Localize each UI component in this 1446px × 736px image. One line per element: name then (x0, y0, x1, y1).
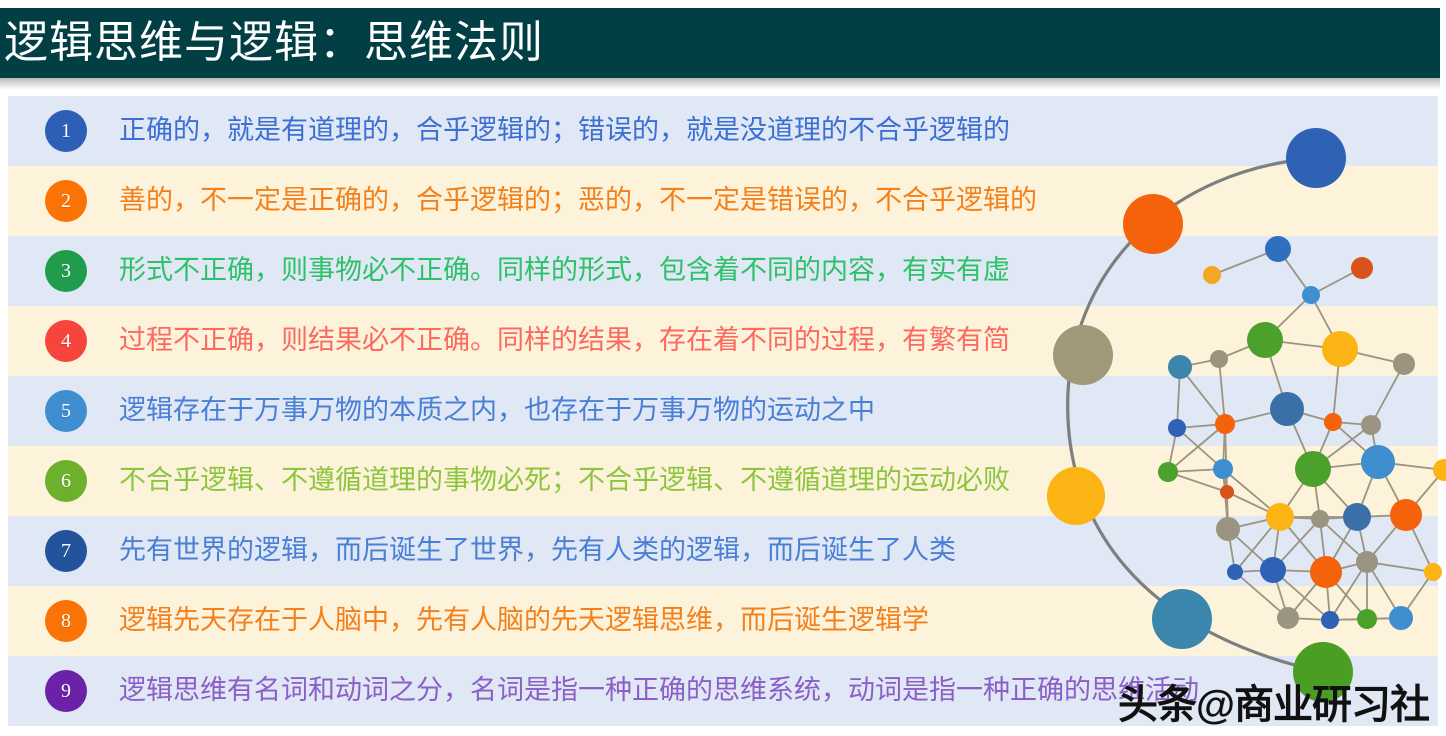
principle-row: 1正确的，就是有道理的，合乎逻辑的；错误的，就是没道理的不合乎逻辑的 (8, 96, 1438, 166)
principle-number-badge: 4 (45, 320, 87, 362)
right-white-margin (1440, 0, 1446, 92)
principles-list: 1正确的，就是有道理的，合乎逻辑的；错误的，就是没道理的不合乎逻辑的2善的，不一… (8, 96, 1438, 736)
slide-canvas: 逻辑思维与逻辑：思维法则 1正确的，就是有道理的，合乎逻辑的；错误的，就是没道理… (0, 0, 1446, 736)
principle-number-badge: 7 (45, 530, 87, 572)
principle-row: 8逻辑先天存在于人脑中，先有人脑的先天逻辑思维，而后诞生逻辑学 (8, 586, 1438, 656)
principle-number-badge: 3 (45, 250, 87, 292)
watermark-text: 头条@商业研习社 (1118, 672, 1429, 730)
principle-text: 善的，不一定是正确的，合乎逻辑的；恶的，不一定是错误的，不合乎逻辑的 (119, 186, 1037, 216)
principle-text: 过程不正确，则结果必不正确。同样的结果，存在着不同的过程，有繁有简 (119, 326, 1010, 356)
slide-header-bar: 逻辑思维与逻辑：思维法则 (0, 8, 1440, 78)
header-shadow-divider (0, 78, 1440, 90)
principle-text: 先有世界的逻辑，而后诞生了世界，先有人类的逻辑，而后诞生了人类 (119, 536, 956, 566)
page-title: 逻辑思维与逻辑：思维法则 (0, 21, 544, 65)
principle-number-badge: 5 (45, 390, 87, 432)
top-white-margin (0, 0, 1446, 8)
principle-row: 2善的，不一定是正确的，合乎逻辑的；恶的，不一定是错误的，不合乎逻辑的 (8, 166, 1438, 236)
principle-number-badge: 8 (45, 600, 87, 642)
principle-text: 不合乎逻辑、不遵循道理的事物必死；不合乎逻辑、不遵循道理的运动必败 (119, 466, 1010, 496)
principle-row: 3形式不正确，则事物必不正确。同样的形式，包含着不同的内容，有实有虚 (8, 236, 1438, 306)
principle-text: 形式不正确，则事物必不正确。同样的形式，包含着不同的内容，有实有虚 (119, 256, 1010, 286)
principle-number-badge: 9 (45, 670, 87, 712)
principle-row: 7先有世界的逻辑，而后诞生了世界，先有人类的逻辑，而后诞生了人类 (8, 516, 1438, 586)
principle-row: 4过程不正确，则结果必不正确。同样的结果，存在着不同的过程，有繁有简 (8, 306, 1438, 376)
principle-number-badge: 2 (45, 180, 87, 222)
principle-text: 逻辑先天存在于人脑中，先有人脑的先天逻辑思维，而后诞生逻辑学 (119, 606, 929, 636)
principle-text: 逻辑存在于万事万物的本质之内，也存在于万事万物的运动之中 (119, 396, 875, 426)
principle-text: 正确的，就是有道理的，合乎逻辑的；错误的，就是没道理的不合乎逻辑的 (119, 116, 1010, 146)
principle-number-badge: 1 (45, 110, 87, 152)
principle-row: 5逻辑存在于万事万物的本质之内，也存在于万事万物的运动之中 (8, 376, 1438, 446)
principle-row: 6不合乎逻辑、不遵循道理的事物必死；不合乎逻辑、不遵循道理的运动必败 (8, 446, 1438, 516)
principle-number-badge: 6 (45, 460, 87, 502)
principle-text: 逻辑思维有名词和动词之分，名词是指一种正确的思维系统，动词是指一种正确的思维活动 (119, 676, 1199, 706)
